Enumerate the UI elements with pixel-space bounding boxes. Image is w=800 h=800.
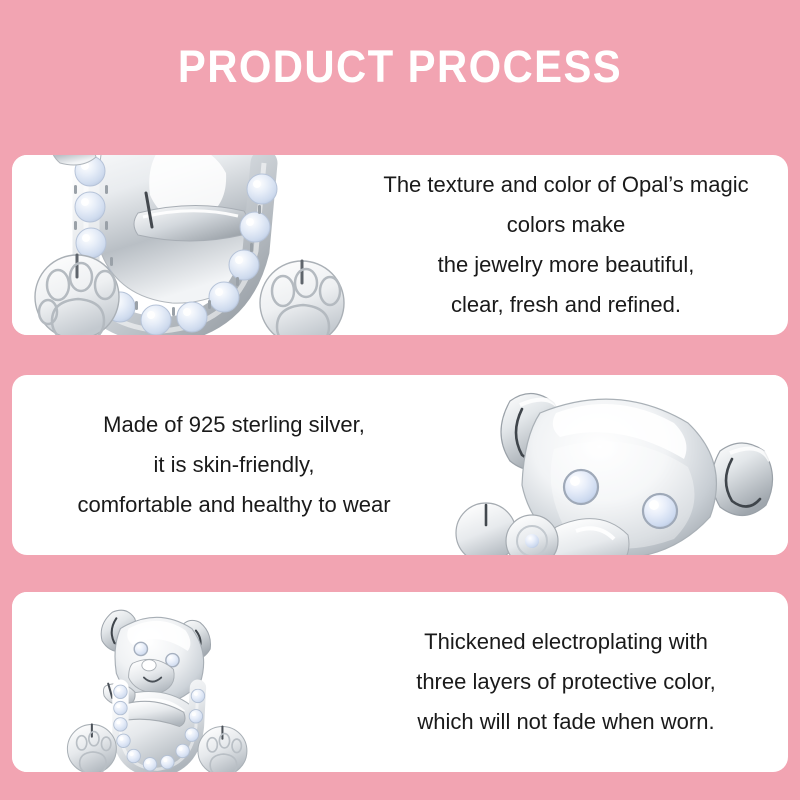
- opal-eye: [564, 470, 598, 504]
- paw-print-icon: [35, 255, 119, 335]
- page-title: PRODUCT PROCESS: [28, 44, 772, 90]
- card-3-line-1: Thickened electroplating with: [424, 622, 708, 662]
- card-1-line-4: clear, fresh and refined.: [451, 285, 681, 325]
- process-card-1-text: The texture and color of Opal’s magic co…: [352, 155, 780, 335]
- process-card-3-text: Thickened electroplating with three laye…: [352, 592, 780, 772]
- product-process-page: PRODUCT PROCESS: [0, 0, 800, 800]
- process-card-2: Made of 925 sterling silver, it is skin-…: [12, 375, 788, 555]
- card-1-line-3: the jewelry more beautiful,: [438, 245, 695, 285]
- process-card-3: Thickened electroplating with three laye…: [12, 592, 788, 772]
- card-2-line-3: comfortable and healthy to wear: [77, 485, 390, 525]
- paw-print-icon: [198, 726, 247, 772]
- card-3-line-2: three layers of protective color,: [416, 662, 716, 702]
- bear-head-opal-eyes-closeup-image: [448, 375, 788, 555]
- card-1-line-1: The texture and color of Opal’s magic: [383, 165, 748, 205]
- card-3-line-3: which will not fade when worn.: [417, 702, 714, 742]
- bear-charm-u-letter-opal-closeup-image: [12, 155, 352, 335]
- card-1-line-2: colors make: [507, 205, 626, 245]
- opal-eye: [643, 494, 677, 528]
- card-2-line-2: it is skin-friendly,: [154, 445, 315, 485]
- paw-print-icon: [260, 261, 344, 335]
- process-card-2-text: Made of 925 sterling silver, it is skin-…: [20, 375, 448, 555]
- card-2-line-1: Made of 925 sterling silver,: [103, 405, 365, 445]
- paw-print-icon: [67, 724, 116, 772]
- bear-charm-u-letter-full-view-image: [12, 592, 352, 772]
- process-card-1: The texture and color of Opal’s magic co…: [12, 155, 788, 335]
